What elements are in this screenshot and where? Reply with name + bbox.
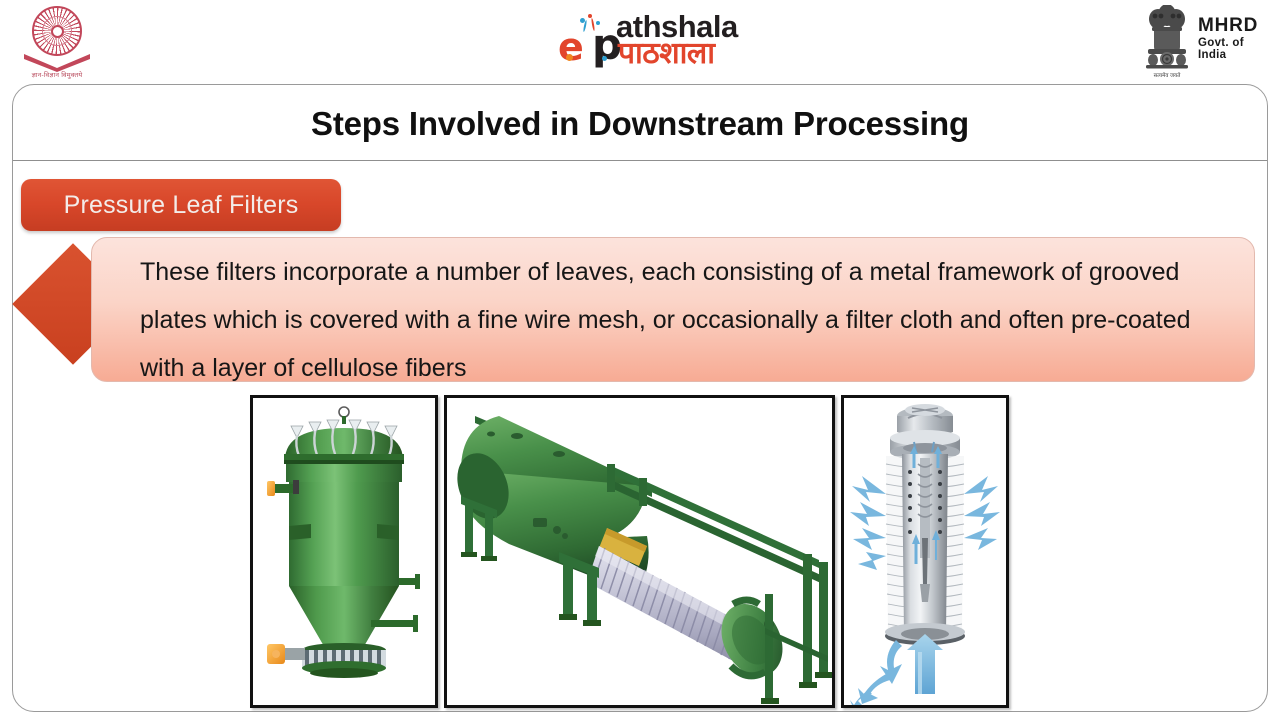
page-title: Steps Involved in Downstream Processing [13, 105, 1267, 143]
mhrd-subtitle: Govt. of India [1198, 38, 1272, 61]
mhrd-motto: सत्यमेव जयते [1136, 71, 1198, 79]
body-callout-box: These filters incorporate a number of le… [91, 237, 1255, 382]
mhrd-title: MHRD [1198, 16, 1258, 35]
ugc-chevron-icon [22, 52, 92, 72]
body-text: These filters incorporate a number of le… [140, 248, 1236, 392]
image-filter-element-flow [841, 395, 1009, 708]
ugc-logo: ज्ञान-विज्ञान विमुक्तये [14, 4, 100, 82]
section-banner: Pressure Leaf Filters [21, 179, 341, 231]
india-state-emblem-icon [1140, 5, 1194, 71]
image-horizontal-pressure-leaf-filter [444, 395, 835, 708]
epathshala-logo: e p athshala पाठशाला [556, 6, 756, 72]
image-row [13, 395, 1267, 713]
mhrd-logo: MHRD Govt. of India सत्यमेव जयते [1122, 3, 1272, 81]
ugc-ashoka-wheel-icon [32, 6, 82, 56]
epathshala-mark-icon: e p [556, 12, 618, 68]
ugc-caption: ज्ञान-विज्ञान विमुक्तये [14, 70, 100, 79]
section-banner-label: Pressure Leaf Filters [21, 179, 341, 231]
horizontal-filter-graphic [447, 398, 832, 705]
vertical-filter-vessel-graphic [253, 398, 435, 705]
title-divider [13, 160, 1267, 161]
epathshala-hindi-word: पाठशाला [618, 39, 715, 69]
slide-frame: Steps Involved in Downstream Processing … [12, 84, 1268, 712]
filter-element-flow-graphic [844, 398, 1006, 705]
page-header: ज्ञान-विज्ञान विमुक्तये e p athshala पाठ… [0, 0, 1280, 84]
image-vertical-pressure-leaf-filter [250, 395, 438, 708]
